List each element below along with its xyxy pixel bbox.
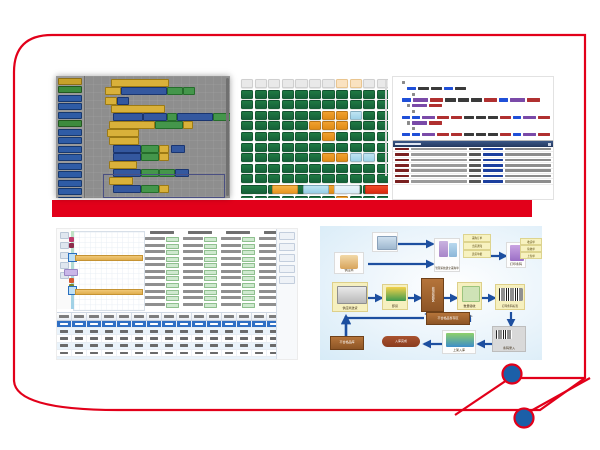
status-cell-r5-c9[interactable] <box>363 132 375 141</box>
gantt-grid[interactable] <box>73 231 145 311</box>
palette-block-component-4[interactable] <box>58 129 82 136</box>
status-cell-r7-c3[interactable] <box>282 153 294 162</box>
table-row[interactable] <box>57 328 297 335</box>
table-cell[interactable] <box>147 335 162 341</box>
status-cell-r9-c8[interactable] <box>350 174 362 183</box>
status-cell-r5-c8[interactable] <box>350 132 362 141</box>
status-cell-r6-c6[interactable] <box>322 143 334 152</box>
table-cell[interactable] <box>162 328 177 334</box>
gantt-marker-3[interactable] <box>69 278 74 283</box>
status-cell-r2-c5[interactable] <box>309 100 321 109</box>
status-cell-r8-c2[interactable] <box>268 164 280 173</box>
status-cell-r8-c9[interactable] <box>363 164 375 173</box>
block-if-test[interactable] <box>117 97 129 105</box>
table-cell[interactable] <box>207 350 222 356</box>
table-cell[interactable] <box>252 328 267 334</box>
block-value-1[interactable] <box>167 87 183 95</box>
status-cell-r11-c1[interactable] <box>255 196 267 198</box>
status-cell-r6-c2[interactable] <box>268 143 280 152</box>
status-cell-r9-c5[interactable] <box>309 174 321 183</box>
table-row[interactable] <box>57 343 297 350</box>
status-cell-r9-c6[interactable] <box>322 174 334 183</box>
table-cell[interactable] <box>162 335 177 341</box>
status-cell-r4-c2[interactable] <box>268 121 280 130</box>
palette-block-component-11[interactable] <box>58 188 82 195</box>
table-cell[interactable] <box>57 335 72 341</box>
status-cell-r4-c6[interactable] <box>322 121 334 130</box>
side-action-5[interactable] <box>279 276 295 284</box>
table-body[interactable] <box>57 321 297 360</box>
table-cell[interactable] <box>102 328 117 334</box>
status-cell-r4-c1[interactable] <box>255 121 267 130</box>
flow-node-label[interactable]: 打印条码标签 <box>495 284 525 310</box>
palette-block-control[interactable] <box>58 78 82 85</box>
error-list-pane[interactable] <box>393 140 553 199</box>
table-row[interactable] <box>57 335 297 342</box>
status-cell-r0-c9[interactable] <box>363 79 375 88</box>
gantt-bar-2[interactable] <box>75 289 143 295</box>
block-set-property[interactable] <box>121 87 167 95</box>
status-cell-r5-c1[interactable] <box>255 132 267 141</box>
table-cell[interactable] <box>162 321 177 327</box>
table-cell[interactable] <box>192 343 207 349</box>
table-cell[interactable] <box>147 321 162 327</box>
status-cell-r11-c5[interactable] <box>309 196 321 198</box>
error-row-6[interactable] <box>393 179 553 184</box>
status-cell-r1-c3[interactable] <box>282 90 294 99</box>
palette-block-logic-2[interactable] <box>58 120 82 127</box>
status-cell-r8-c6[interactable] <box>322 164 334 173</box>
table-cell[interactable] <box>207 335 222 341</box>
flow-node-reject[interactable]: 不合格品暂存区 <box>426 312 470 325</box>
block-statement-2[interactable] <box>109 137 139 145</box>
table-header-row[interactable] <box>57 313 297 321</box>
status-cell-r7-c7[interactable] <box>336 153 348 162</box>
table-cell[interactable] <box>57 321 72 327</box>
table-cell[interactable] <box>87 335 102 341</box>
flow-node-system[interactable]: 管理系统建立采购单 <box>434 238 460 272</box>
status-cell-r3-c4[interactable] <box>295 111 307 120</box>
gantt-marker-2[interactable] <box>69 243 74 248</box>
side-action-3[interactable] <box>279 254 295 262</box>
table-cell[interactable] <box>237 335 252 341</box>
table-column-header-7[interactable] <box>162 313 177 320</box>
status-cell-r5-c7[interactable] <box>336 132 348 141</box>
status-cell-r2-c0[interactable] <box>241 100 253 109</box>
palette-block-component-3[interactable] <box>58 112 82 119</box>
status-cell-r4-c8[interactable] <box>350 121 362 130</box>
status-cell-r4-c0[interactable] <box>241 121 253 130</box>
table-cell[interactable] <box>87 321 102 327</box>
table-cell[interactable] <box>177 328 192 334</box>
flow-node-supplier[interactable]: 供应商 <box>334 252 364 274</box>
table-column-header-8[interactable] <box>177 313 192 320</box>
status-cell-r4-c5[interactable] <box>309 121 321 130</box>
block-call-2[interactable] <box>143 113 167 121</box>
block-getter-1[interactable] <box>141 145 159 153</box>
flow-node-order[interactable]: 订货单 <box>372 232 398 252</box>
table-cell[interactable] <box>72 343 87 349</box>
status-cell-grid[interactable] <box>241 79 388 198</box>
table-cell[interactable] <box>222 335 237 341</box>
status-cell-r4-c9[interactable] <box>363 121 375 130</box>
gantt-label-chip[interactable] <box>64 269 78 276</box>
status-cell-r0-c1[interactable] <box>255 79 267 88</box>
table-column-header-4[interactable] <box>117 313 132 320</box>
status-cell-r9-c9[interactable] <box>363 174 375 183</box>
status-cell-r3-c2[interactable] <box>268 111 280 120</box>
flow-node-scan[interactable]: 条码录入 <box>492 326 526 352</box>
table-cell[interactable] <box>177 350 192 356</box>
table-cell[interactable] <box>237 321 252 327</box>
status-cell-r5-c4[interactable] <box>295 132 307 141</box>
status-cell-r1-c0[interactable] <box>241 90 253 99</box>
table-cell[interactable] <box>57 350 72 356</box>
blocks-palette[interactable] <box>56 76 85 198</box>
grid-scrollbar[interactable] <box>385 80 387 176</box>
table-cell[interactable] <box>222 350 237 356</box>
status-cell-r7-c5[interactable] <box>309 153 321 162</box>
status-cell-r7-c8[interactable] <box>350 153 362 162</box>
status-cell-r11-c0[interactable] <box>241 196 253 198</box>
table-column-header-10[interactable] <box>207 313 222 320</box>
palette-block-component-10[interactable] <box>58 180 82 187</box>
table-cell[interactable] <box>72 357 87 360</box>
block-value-3[interactable] <box>155 121 183 129</box>
status-cell-r9-c4[interactable] <box>295 174 307 183</box>
status-cell-r6-c8[interactable] <box>350 143 362 152</box>
table-cell[interactable] <box>87 357 102 360</box>
status-cell-r2-c1[interactable] <box>255 100 267 109</box>
status-cell-r8-c0[interactable] <box>241 164 253 173</box>
table-column-header-12[interactable] <box>237 313 252 320</box>
blocks-editor-panel[interactable] <box>56 76 230 198</box>
block-control-group[interactable] <box>109 121 155 129</box>
data-table[interactable] <box>57 312 297 359</box>
table-cell[interactable] <box>147 357 162 360</box>
status-cell-r7-c2[interactable] <box>268 153 280 162</box>
status-cell-r1-c7[interactable] <box>336 90 348 99</box>
table-cell[interactable] <box>132 335 147 341</box>
table-column-header-3[interactable] <box>102 313 117 320</box>
code-line-2[interactable] <box>396 93 550 96</box>
status-cell-r0-c2[interactable] <box>268 79 280 88</box>
status-cell-r0-c8[interactable] <box>350 79 362 88</box>
table-cell[interactable] <box>222 321 237 327</box>
table-cell[interactable] <box>252 335 267 341</box>
side-action-2[interactable] <box>279 243 295 251</box>
block-call-1[interactable] <box>113 113 143 121</box>
side-action-4[interactable] <box>279 265 295 273</box>
flow-node-reject-warehouse[interactable]: 不合格品库 <box>330 336 364 350</box>
table-cell[interactable] <box>207 343 222 349</box>
table-cell[interactable] <box>252 343 267 349</box>
block-if[interactable] <box>105 97 117 105</box>
table-cell[interactable] <box>237 343 252 349</box>
flow-node-done[interactable]: 入库完成 <box>382 336 420 347</box>
status-grid-panel[interactable] <box>238 76 388 198</box>
gantt-bar-1[interactable] <box>75 255 143 261</box>
table-cell[interactable] <box>252 357 267 360</box>
status-cell-r5-c3[interactable] <box>282 132 294 141</box>
table-cell[interactable] <box>72 335 87 341</box>
block-do-wrapper[interactable] <box>105 87 121 95</box>
status-cell-r8-c7[interactable] <box>336 164 348 173</box>
status-cell-r11-c9[interactable] <box>363 196 375 198</box>
table-cell[interactable] <box>207 328 222 334</box>
code-line-7[interactable] <box>396 121 550 124</box>
palette-block-component-6[interactable] <box>58 146 82 153</box>
block-call-3[interactable] <box>177 113 213 121</box>
table-row[interactable] <box>57 350 297 357</box>
block-ref-1[interactable] <box>171 145 185 153</box>
status-cell-r0-c4[interactable] <box>295 79 307 88</box>
status-cell-r2-c3[interactable] <box>282 100 294 109</box>
table-cell[interactable] <box>102 357 117 360</box>
toolbar-button-4[interactable] <box>60 262 69 269</box>
flow-node-unload[interactable]: 卸货 <box>382 284 408 310</box>
side-action-1[interactable] <box>279 232 295 240</box>
table-cell[interactable] <box>162 343 177 349</box>
status-cell-r5-c6[interactable] <box>322 132 334 141</box>
table-cell[interactable] <box>132 357 147 360</box>
flow-node-qty[interactable]: 数量验收 <box>457 282 482 310</box>
table-cell[interactable] <box>117 343 132 349</box>
table-cell[interactable] <box>192 321 207 327</box>
status-cell-r3-c0[interactable] <box>241 111 253 120</box>
status-cell-r2-c4[interactable] <box>295 100 307 109</box>
table-cell[interactable] <box>222 343 237 349</box>
code-line-3[interactable] <box>396 98 550 101</box>
status-cell-r2-c9[interactable] <box>363 100 375 109</box>
code-line-0[interactable] <box>396 81 550 84</box>
status-cell-r6-c7[interactable] <box>336 143 348 152</box>
status-cell-r3-c9[interactable] <box>363 111 375 120</box>
code-line-6[interactable] <box>396 116 550 119</box>
table-cell[interactable] <box>192 335 207 341</box>
table-row[interactable] <box>57 357 297 360</box>
table-cell[interactable] <box>117 321 132 327</box>
logistics-flowchart-panel[interactable]: 订货单 供应商 管理系统建立采购单 采购订单 出货通知 送货单据 打印条码 收货… <box>320 226 542 360</box>
block-event-handler[interactable] <box>111 79 169 87</box>
status-cell-r5-c0[interactable] <box>241 132 253 141</box>
table-cell[interactable] <box>57 357 72 360</box>
table-cell[interactable] <box>177 357 192 360</box>
table-side-actions[interactable] <box>276 229 297 359</box>
table-cell[interactable] <box>237 328 252 334</box>
palette-block-component-9[interactable] <box>58 171 82 178</box>
table-cell[interactable] <box>117 328 132 334</box>
toolbar-button-1[interactable] <box>60 232 69 239</box>
status-cell-r6-c9[interactable] <box>363 143 375 152</box>
table-cell[interactable] <box>72 321 87 327</box>
table-cell[interactable] <box>162 357 177 360</box>
table-cell[interactable] <box>57 328 72 334</box>
table-cell[interactable] <box>132 350 147 356</box>
table-cell[interactable] <box>222 357 237 360</box>
status-cell-r2-c7[interactable] <box>336 100 348 109</box>
block-setter-1[interactable] <box>113 145 141 153</box>
status-cell-r0-c5[interactable] <box>309 79 321 88</box>
block-num-2[interactable] <box>159 153 169 161</box>
table-cell[interactable] <box>117 357 132 360</box>
table-row[interactable] <box>57 321 297 328</box>
palette-block-logic[interactable] <box>58 86 82 93</box>
table-cell[interactable] <box>117 350 132 356</box>
block-value-2[interactable] <box>183 87 195 95</box>
table-cell[interactable] <box>252 350 267 356</box>
table-cell[interactable] <box>192 350 207 356</box>
status-cell-r3-c5[interactable] <box>309 111 321 120</box>
blocks-vertical-scrollbar[interactable] <box>226 78 229 196</box>
table-column-header-1[interactable] <box>72 313 87 320</box>
table-cell[interactable] <box>87 343 102 349</box>
status-cell-r8-c5[interactable] <box>309 164 321 173</box>
gantt-marker-1[interactable] <box>69 237 74 242</box>
table-cell[interactable] <box>192 328 207 334</box>
close-icon[interactable] <box>548 143 551 146</box>
status-cell-r3-c1[interactable] <box>255 111 267 120</box>
table-column-header-13[interactable] <box>252 313 267 320</box>
table-column-header-0[interactable] <box>57 313 72 320</box>
flow-node-putaway[interactable]: 上架入库 <box>442 330 476 354</box>
table-cell[interactable] <box>72 350 87 356</box>
table-column-header-2[interactable] <box>87 313 102 320</box>
table-cell[interactable] <box>132 321 147 327</box>
palette-block-component-8[interactable] <box>58 163 82 170</box>
status-cell-r3-c7[interactable] <box>336 111 348 120</box>
status-cell-r6-c0[interactable] <box>241 143 253 152</box>
table-cell[interactable] <box>132 328 147 334</box>
palette-block-component-7[interactable] <box>58 154 82 161</box>
gantt-table-panel[interactable] <box>56 228 298 360</box>
block-statement-1[interactable] <box>107 129 139 137</box>
status-cell-r11-c8[interactable] <box>350 196 362 198</box>
status-cell-r0-c7[interactable] <box>336 79 348 88</box>
status-cell-r8-c8[interactable] <box>350 164 362 173</box>
status-cell-r1-c9[interactable] <box>363 90 375 99</box>
table-cell[interactable] <box>132 343 147 349</box>
status-cell-r5-c5[interactable] <box>309 132 321 141</box>
status-cell-r6-c3[interactable] <box>282 143 294 152</box>
block-getter-2[interactable] <box>141 153 159 161</box>
table-cell[interactable] <box>192 357 207 360</box>
table-cell[interactable] <box>177 343 192 349</box>
status-cell-r9-c7[interactable] <box>336 174 348 183</box>
table-cell[interactable] <box>102 343 117 349</box>
status-cell-r9-c0[interactable] <box>241 174 253 183</box>
status-cell-r5-c2[interactable] <box>268 132 280 141</box>
table-cell[interactable] <box>87 350 102 356</box>
error-list-rows[interactable] <box>393 147 553 185</box>
palette-block-component-12[interactable] <box>58 197 82 199</box>
status-cell-r6-c1[interactable] <box>255 143 267 152</box>
flow-node-delivery[interactable]: 供应商送货 <box>332 282 368 312</box>
status-cell-r11-c10[interactable] <box>377 196 388 198</box>
table-column-header-6[interactable] <box>147 313 162 320</box>
table-cell[interactable] <box>147 328 162 334</box>
code-line-9[interactable] <box>396 133 550 136</box>
block-comment[interactable] <box>111 105 165 113</box>
table-cell[interactable] <box>117 335 132 341</box>
table-cell[interactable] <box>162 350 177 356</box>
table-cell[interactable] <box>237 357 252 360</box>
table-cell[interactable] <box>57 343 72 349</box>
status-cell-r11-c2[interactable] <box>268 196 280 198</box>
block-value-4[interactable] <box>183 121 193 129</box>
code-editor-panel[interactable] <box>392 76 554 200</box>
status-cell-r8-c3[interactable] <box>282 164 294 173</box>
code-text-area[interactable] <box>393 77 553 139</box>
status-cell-r3-c6[interactable] <box>322 111 334 120</box>
table-cell[interactable] <box>252 321 267 327</box>
table-cell[interactable] <box>72 328 87 334</box>
status-cell-r6-c4[interactable] <box>295 143 307 152</box>
table-cell[interactable] <box>147 350 162 356</box>
toolbar-button-2[interactable] <box>60 242 69 249</box>
status-cell-r1-c8[interactable] <box>350 90 362 99</box>
status-cell-r0-c6[interactable] <box>322 79 334 88</box>
blocks-canvas[interactable] <box>85 76 230 198</box>
code-line-5[interactable] <box>396 110 550 113</box>
code-line-4[interactable] <box>396 104 550 107</box>
palette-block-component-2[interactable] <box>58 103 82 110</box>
status-cell-r11-c3[interactable] <box>282 196 294 198</box>
status-cell-r7-c1[interactable] <box>255 153 267 162</box>
table-cell[interactable] <box>102 350 117 356</box>
status-cell-r6-c5[interactable] <box>309 143 321 152</box>
status-cell-r1-c6[interactable] <box>322 90 334 99</box>
table-cell[interactable] <box>237 350 252 356</box>
palette-block-component-1[interactable] <box>58 95 82 102</box>
code-line-1[interactable] <box>396 87 550 90</box>
status-cell-r2-c2[interactable] <box>268 100 280 109</box>
table-column-header-5[interactable] <box>132 313 147 320</box>
status-cell-r8-c1[interactable] <box>255 164 267 173</box>
table-cell[interactable] <box>207 357 222 360</box>
status-cell-r7-c9[interactable] <box>363 153 375 162</box>
status-cell-r4-c4[interactable] <box>295 121 307 130</box>
status-cell-r11-c6[interactable] <box>322 196 334 198</box>
status-cell-r7-c4[interactable] <box>295 153 307 162</box>
table-cell[interactable] <box>102 321 117 327</box>
status-cell-r1-c2[interactable] <box>268 90 280 99</box>
status-cell-r3-c3[interactable] <box>282 111 294 120</box>
status-cell-r11-c7[interactable] <box>336 196 348 198</box>
status-cell-r9-c1[interactable] <box>255 174 267 183</box>
status-cell-r1-c4[interactable] <box>295 90 307 99</box>
status-cell-r4-c3[interactable] <box>282 121 294 130</box>
table-cell[interactable] <box>177 335 192 341</box>
status-cell-r2-c6[interactable] <box>322 100 334 109</box>
table-cell[interactable] <box>147 343 162 349</box>
status-cell-r1-c5[interactable] <box>309 90 321 99</box>
block-statement-3[interactable] <box>109 161 137 169</box>
status-cell-r2-c8[interactable] <box>350 100 362 109</box>
status-cell-r11-c4[interactable] <box>295 196 307 198</box>
status-cell-r0-c0[interactable] <box>241 79 253 88</box>
status-cell-r9-c3[interactable] <box>282 174 294 183</box>
status-cell-r8-c4[interactable] <box>295 164 307 173</box>
block-op-1[interactable] <box>167 113 177 121</box>
table-cell[interactable] <box>207 321 222 327</box>
table-column-header-11[interactable] <box>222 313 237 320</box>
table-column-header-9[interactable] <box>192 313 207 320</box>
status-cell-r9-c2[interactable] <box>268 174 280 183</box>
code-line-8[interactable] <box>396 127 550 130</box>
flow-node-inspect[interactable]: 收货检验区 <box>421 278 444 312</box>
table-cell[interactable] <box>87 328 102 334</box>
